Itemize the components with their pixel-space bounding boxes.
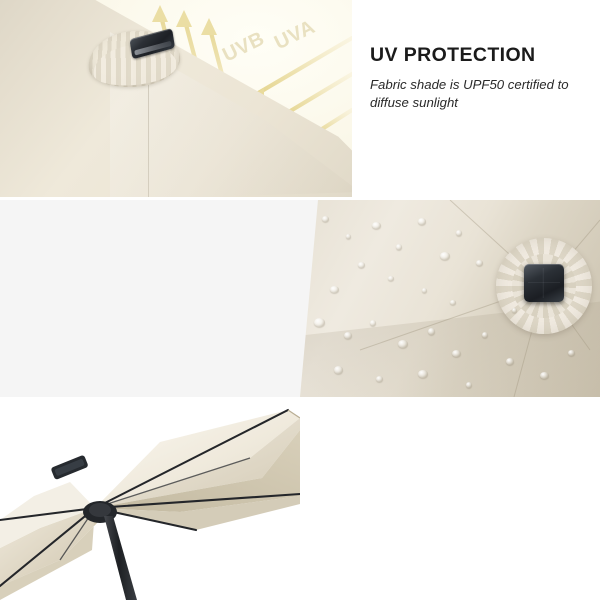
uv-protection-text-block: UV PROTECTION Fabric shade is UPF50 cert… — [370, 44, 600, 112]
waterproof-photo — [300, 200, 600, 397]
water-droplet — [418, 370, 428, 378]
water-droplet — [358, 262, 365, 268]
water-droplet — [330, 286, 339, 293]
water-droplet — [418, 218, 426, 225]
umbrella-crown — [85, 26, 183, 93]
water-droplet — [344, 332, 352, 339]
water-droplet — [456, 230, 462, 236]
solar-panel-icon — [524, 264, 564, 302]
water-droplet — [452, 350, 461, 357]
tilted-umbrella-graphic — [0, 400, 300, 600]
water-droplet — [370, 320, 376, 326]
panel-uv-protection: UVB UVA UV PROTECTION Fabric shade is UP… — [0, 0, 600, 197]
water-droplet — [314, 318, 325, 327]
water-droplet — [372, 222, 381, 229]
uv-protection-photo: UVB UVA — [0, 0, 352, 197]
water-droplet — [322, 216, 329, 222]
water-droplet — [466, 382, 472, 388]
water-droplet — [422, 288, 427, 293]
water-droplet — [482, 332, 488, 338]
umbrella-hub — [496, 238, 592, 334]
water-droplet — [428, 328, 435, 335]
water-droplet — [506, 358, 514, 365]
water-droplet — [396, 244, 402, 250]
water-droplet — [450, 300, 456, 305]
water-droplet — [540, 372, 549, 379]
water-droplet — [398, 340, 408, 348]
adjust-angle-photo — [0, 400, 300, 600]
water-droplet — [512, 308, 517, 313]
water-droplet — [388, 276, 394, 281]
water-droplet — [346, 234, 351, 239]
panel-waterproof: WATERPROOF Heauy-duty polyeater fabric — [0, 200, 600, 397]
panel-adjust-angle: 45° ADJUST PERFECT ANGLE Enjoy more shad… — [0, 400, 600, 600]
water-droplet — [568, 350, 575, 356]
infographic-sheet: UVB UVA UV PROTECTION Fabric shade is UP… — [0, 0, 600, 600]
water-droplet — [440, 252, 450, 260]
water-droplet — [334, 366, 343, 374]
uv-protection-headline: UV PROTECTION — [370, 44, 600, 67]
water-droplet — [376, 376, 383, 382]
water-droplet — [476, 260, 483, 266]
uv-protection-subline: Fabric shade is UPF50 certified to diffu… — [370, 76, 600, 112]
